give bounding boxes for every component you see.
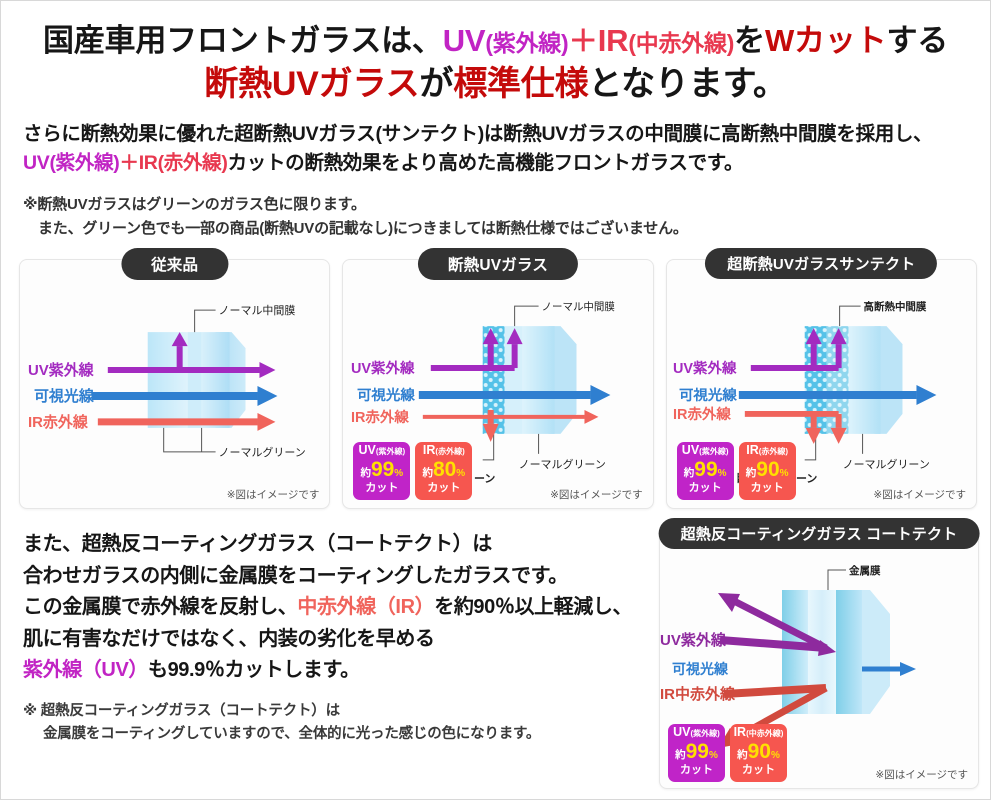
headline-wo: を: [734, 23, 765, 58]
headline-ir-label: IR: [598, 23, 629, 58]
bottom-line-2: 合わせガラスの内側に金属膜をコーティングしたガラスです。: [23, 561, 643, 593]
lead-rest: カットの断熱効果をより高めた高機能フロントガラスです。: [228, 152, 744, 174]
badge-ir-title: IR(中赤外線): [734, 726, 784, 739]
callout-interlayer: [515, 306, 539, 326]
bottom-line-5: 紫外線（UV）も99.9％カットします。: [23, 655, 643, 687]
bottom-uv-term: 紫外線（UV）: [23, 659, 148, 681]
ray-uv-label: UV紫外線: [351, 359, 415, 377]
badge-ir-title: IR(赤外線): [746, 444, 788, 457]
badge-ir-value: 約80%: [422, 459, 465, 480]
lead-paragraph: さらに断熱効果に優れた超断熱UVガラス(サンテクト)は断熱UVガラスの中間膜に高…: [23, 120, 990, 179]
badge-uv: UV(紫外線) 約99% カット: [353, 442, 410, 500]
panel-title-suntect: 超断熱UVガラスサンテクト: [705, 248, 937, 279]
comparison-panels: 従来品: [19, 259, 977, 509]
bottom-line-3a: この金属膜で赤外線を反射し、: [23, 596, 297, 618]
headline-uv-paren: (紫外線): [485, 30, 568, 56]
badge-uv: UV(紫外線) 約99% カット: [668, 724, 725, 782]
image-note-conventional: ※図はイメージです: [227, 487, 320, 502]
ray-uv-label: UV紫外線: [660, 631, 727, 649]
ray-visible-label: 可視光線: [357, 386, 415, 404]
bottom-description: また、超熱反コーティングガラス（コートテクト）は 合わせガラスの内側に金属膜をコ…: [23, 529, 643, 747]
headline-plus: ＋: [568, 25, 597, 58]
bottom-notes: ※ 超熱反コーティングガラス（コートテクト）は 金属膜をコーティングしていますの…: [23, 700, 643, 747]
headline-product: 断熱UVガラス: [204, 65, 419, 103]
callout-interlayer: [195, 310, 216, 332]
badges-uvglass: UV(紫外線) 約99% カット IR(赤外線) 約80% カット: [353, 442, 472, 500]
ray-uv-label: UV紫外線: [28, 361, 95, 379]
badge-uv-title: UV(紫外線): [358, 444, 405, 457]
lead-note-1: ※断熱UVガラスはグリーンのガラス色に限ります。: [23, 196, 366, 213]
panel-title-coattect: 超熱反コーティングガラス コートテクト: [659, 518, 980, 549]
badge-uv-cut: カット: [365, 483, 398, 494]
badge-ir: IR(中赤外線) 約90% カット: [730, 724, 787, 782]
callout-green-label: ノーマルグリーン: [842, 457, 929, 471]
badge-ir-cut: カット: [742, 765, 775, 776]
ray-ir-label: IR赤外線: [673, 405, 731, 423]
panel-conventional: 従来品: [19, 259, 330, 509]
badge-uv-value: 約99%: [360, 459, 403, 480]
bottom-line-4: 肌に有害なだけではなく、内装の劣化を早める: [23, 624, 643, 656]
bottom-line-5b: も99.9％カットします。: [148, 659, 360, 681]
bottom-line-3: この金属膜で赤外線を反射し、中赤外線（IR）を約90％以上軽減し、: [23, 592, 643, 624]
infographic-page: 国産車用フロントガラスは、UV(紫外線)＋IR(中赤外線)をWカットする 断熱U…: [0, 0, 991, 800]
callout-interlayer-label: 高断熱中間膜: [863, 300, 926, 313]
lead-uv: UV(紫外線): [23, 152, 119, 174]
badge-ir-cut: カット: [751, 483, 784, 494]
panel-title-conventional: 従来品: [121, 248, 228, 280]
badge-ir-cut: カット: [427, 483, 460, 494]
bottom-note-1: ※ 超熱反コーティングガラス（コートテクト）は: [23, 703, 340, 719]
badge-uv-cut: カット: [689, 483, 722, 494]
badge-uv-value: 約99%: [675, 741, 718, 762]
badge-ir-value: 約90%: [746, 459, 789, 480]
headline: 国産車用フロントガラスは、UV(紫外線)＋IR(中赤外線)をWカットする 断熱U…: [1, 1, 990, 104]
ray-ir-label: IR赤外線: [351, 408, 409, 426]
bottom-note-2: 金属膜をコーティングしていますので、全体的に光った感じの色になります。: [23, 723, 643, 746]
bottom-line-1: また、超熱反コーティングガラス（コートテクト）は: [23, 529, 643, 561]
lead-line-2: UV(紫外線)＋IR(赤外線)カットの断熱効果をより高めた高機能フロントガラスで…: [23, 149, 990, 179]
bottom-line-3c: を約90％以上軽減し、: [434, 596, 632, 618]
panel-title-uvglass: 断熱UVガラス: [418, 248, 578, 280]
image-note-uvglass: ※図はイメージです: [550, 487, 643, 502]
headline-line-1: 国産車用フロントガラスは、UV(紫外線)＋IR(中赤外線)をWカットする: [1, 23, 990, 60]
ray-visible-label: 可視光線: [34, 387, 95, 405]
badges-suntect: UV(紫外線) 約99% カット IR(赤外線) 約90% カット: [677, 442, 796, 500]
callout-green: [164, 428, 216, 452]
callout-metalfilm: [828, 570, 846, 590]
headline-suru: する: [886, 23, 948, 58]
badge-ir: IR(赤外線) 約80% カット: [415, 442, 472, 500]
panel-suntect: 超断熱UVガラスサンテクト: [666, 259, 977, 509]
ray-visible-label: 可視光線: [672, 661, 729, 677]
headline-uv-label: UV: [443, 23, 486, 58]
badge-uv: UV(紫外線) 約99% カット: [677, 442, 734, 500]
ray-ir-label: IR中赤外線: [660, 685, 736, 703]
image-note-suntect: ※図はイメージです: [873, 487, 966, 502]
lead-ir: IR(赤外線): [139, 152, 228, 174]
bottom-description-body: また、超熱反コーティングガラス（コートテクト）は 合わせガラスの内側に金属膜をコ…: [23, 529, 643, 687]
headline-ir-paren: (中赤外線): [628, 30, 734, 56]
callout-interlayer-label: ノーマル中間膜: [219, 304, 296, 317]
headline-standard: 標準仕様: [453, 65, 588, 103]
callout-green-label: ノーマルグリーン: [219, 445, 306, 459]
badge-ir-title: IR(赤外線): [423, 444, 465, 457]
lead-plus: ＋: [119, 152, 138, 174]
lead-note-2: また、グリーン色でも一部の商品(断熱UVの記載なし)につきましては断熱仕様ではご…: [23, 217, 990, 241]
glass-stack: [148, 332, 246, 428]
ray-ir-label: IR赤外線: [28, 413, 89, 431]
panel-uvglass: 断熱UVガラス: [342, 259, 653, 509]
bottom-ir-term: 中赤外線（IR）: [297, 596, 434, 618]
callout-metalfilm-label: 金属膜: [848, 564, 881, 577]
image-note-coattect: ※図はイメージです: [875, 767, 968, 782]
badge-ir: IR(赤外線) 約90% カット: [739, 442, 796, 500]
badge-uv-value: 約99%: [684, 459, 727, 480]
badge-uv-title: UV(紫外線): [682, 444, 729, 457]
panel-coattect: 超熱反コーティングガラス コートテクト: [659, 529, 979, 789]
ray-uv-label: UV紫外線: [673, 359, 737, 377]
badge-uv-cut: カット: [680, 765, 713, 776]
headline-seg: 国産車用フロントガラスは、: [43, 23, 443, 58]
diagram-conventional: ノーマル中間膜 ノーマルグリーン UV紫外線: [20, 282, 329, 488]
lead-line-1: さらに断熱効果に優れた超断熱UVガラス(サンテクト)は断熱UVガラスの中間膜に高…: [23, 120, 990, 150]
lead-notes: ※断熱UVガラスはグリーンのガラス色に限ります。 また、グリーン色でも一部の商品…: [23, 193, 990, 242]
headline-line-2: 断熱UVガラスが標準仕様となります。: [1, 64, 990, 104]
badge-ir-value: 約90%: [737, 741, 780, 762]
badge-uv-title: UV(紫外線): [673, 726, 720, 739]
headline-wcut: Wカット: [765, 23, 886, 58]
callout-green-label: ノーマルグリーン: [519, 457, 606, 471]
ray-visible-label: 可視光線: [679, 386, 737, 404]
badges-coattect: UV(紫外線) 約99% カット IR(中赤外線) 約90% カット: [668, 724, 787, 782]
callout-interlayer-label: ノーマル中間膜: [542, 300, 616, 313]
callout-interlayer: [839, 306, 860, 326]
headline-ga: が: [419, 65, 453, 103]
headline-tail: となります。: [588, 65, 786, 103]
